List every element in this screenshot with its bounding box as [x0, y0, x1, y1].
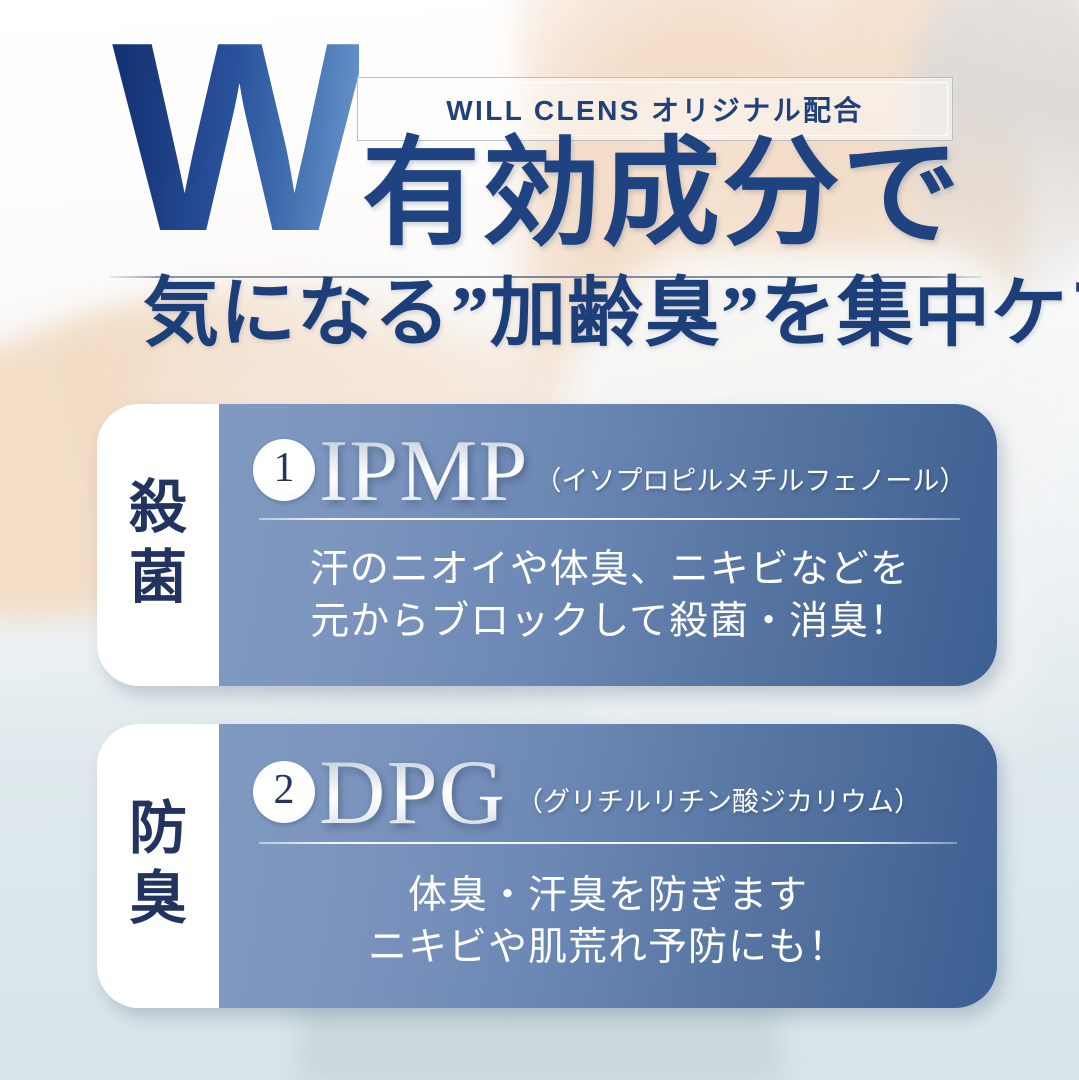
ingredient-card-2: 防 臭 2 DPG （グリチルリチン酸ジカリウム） 体臭・汗臭を防ぎます ニキビ… — [97, 724, 997, 1008]
card-1-number-badge: 1 — [253, 439, 315, 501]
headline-secondary: 気になる”加齢臭”を集中ケア！ — [143, 268, 943, 360]
card-1-chemical-name: （イソプロピルメチルフェノール） — [534, 466, 966, 496]
card-1-description: 汗のニオイや体臭、ニキビなどを 元からブロックして殺菌・消臭！ — [253, 520, 966, 648]
card-1-description-line-1: 汗のニオイや体臭、ニキビなどを — [253, 544, 966, 596]
card-1-abbreviation: IPMP — [319, 428, 528, 516]
brand-initial-w: W — [112, 18, 359, 258]
card-1-description-line-2: 元からブロックして殺菌・消臭！ — [253, 596, 966, 648]
ingredient-card-1: 殺 菌 1 IPMP （イソプロピルメチルフェノール） 汗のニオイや体臭、ニキビ… — [97, 404, 997, 686]
card-2-number-badge: 2 — [253, 761, 315, 823]
card-1-tab-char-1: 殺 — [129, 476, 187, 540]
card-2-number: 2 — [274, 769, 295, 811]
card-1-header: 1 IPMP （イソプロピルメチルフェノール） — [253, 404, 966, 512]
card-2-body: 2 DPG （グリチルリチン酸ジカリウム） 体臭・汗臭を防ぎます ニキビや肌荒れ… — [219, 724, 997, 1008]
card-2-description: 体臭・汗臭を防ぎます ニキビや肌荒れ予防にも！ — [253, 844, 963, 974]
card-1-tab-char-2: 菌 — [129, 546, 187, 610]
card-1-category-tab: 殺 菌 — [97, 404, 219, 686]
card-2-category-tab: 防 臭 — [97, 724, 219, 1008]
card-1-body: 1 IPMP （イソプロピルメチルフェノール） 汗のニオイや体臭、ニキビなどを … — [219, 404, 997, 686]
card-2-chemical-name: （グリチルリチン酸ジカリウム） — [516, 787, 921, 817]
card-2-header: 2 DPG （グリチルリチン酸ジカリウム） — [253, 724, 963, 836]
card-2-description-line-2: ニキビや肌荒れ予防にも！ — [253, 922, 963, 974]
card-1-number: 1 — [274, 447, 295, 489]
card-2-tab-char-1: 防 — [129, 797, 187, 861]
card-2-description-line-1: 体臭・汗臭を防ぎます — [253, 870, 963, 922]
brand-badge-label: WILL CLENS オリジナル配合 — [446, 89, 864, 129]
card-2-tab-char-2: 臭 — [129, 867, 187, 931]
brand-badge-inner: WILL CLENS オリジナル配合 — [362, 82, 948, 136]
headline-primary: 有効成分で — [362, 136, 962, 254]
card-2-abbreviation: DPG — [319, 748, 506, 836]
promo-banner: W WILL CLENS オリジナル配合 有効成分で 気になる”加齢臭”を集中ケ… — [0, 0, 1079, 1080]
